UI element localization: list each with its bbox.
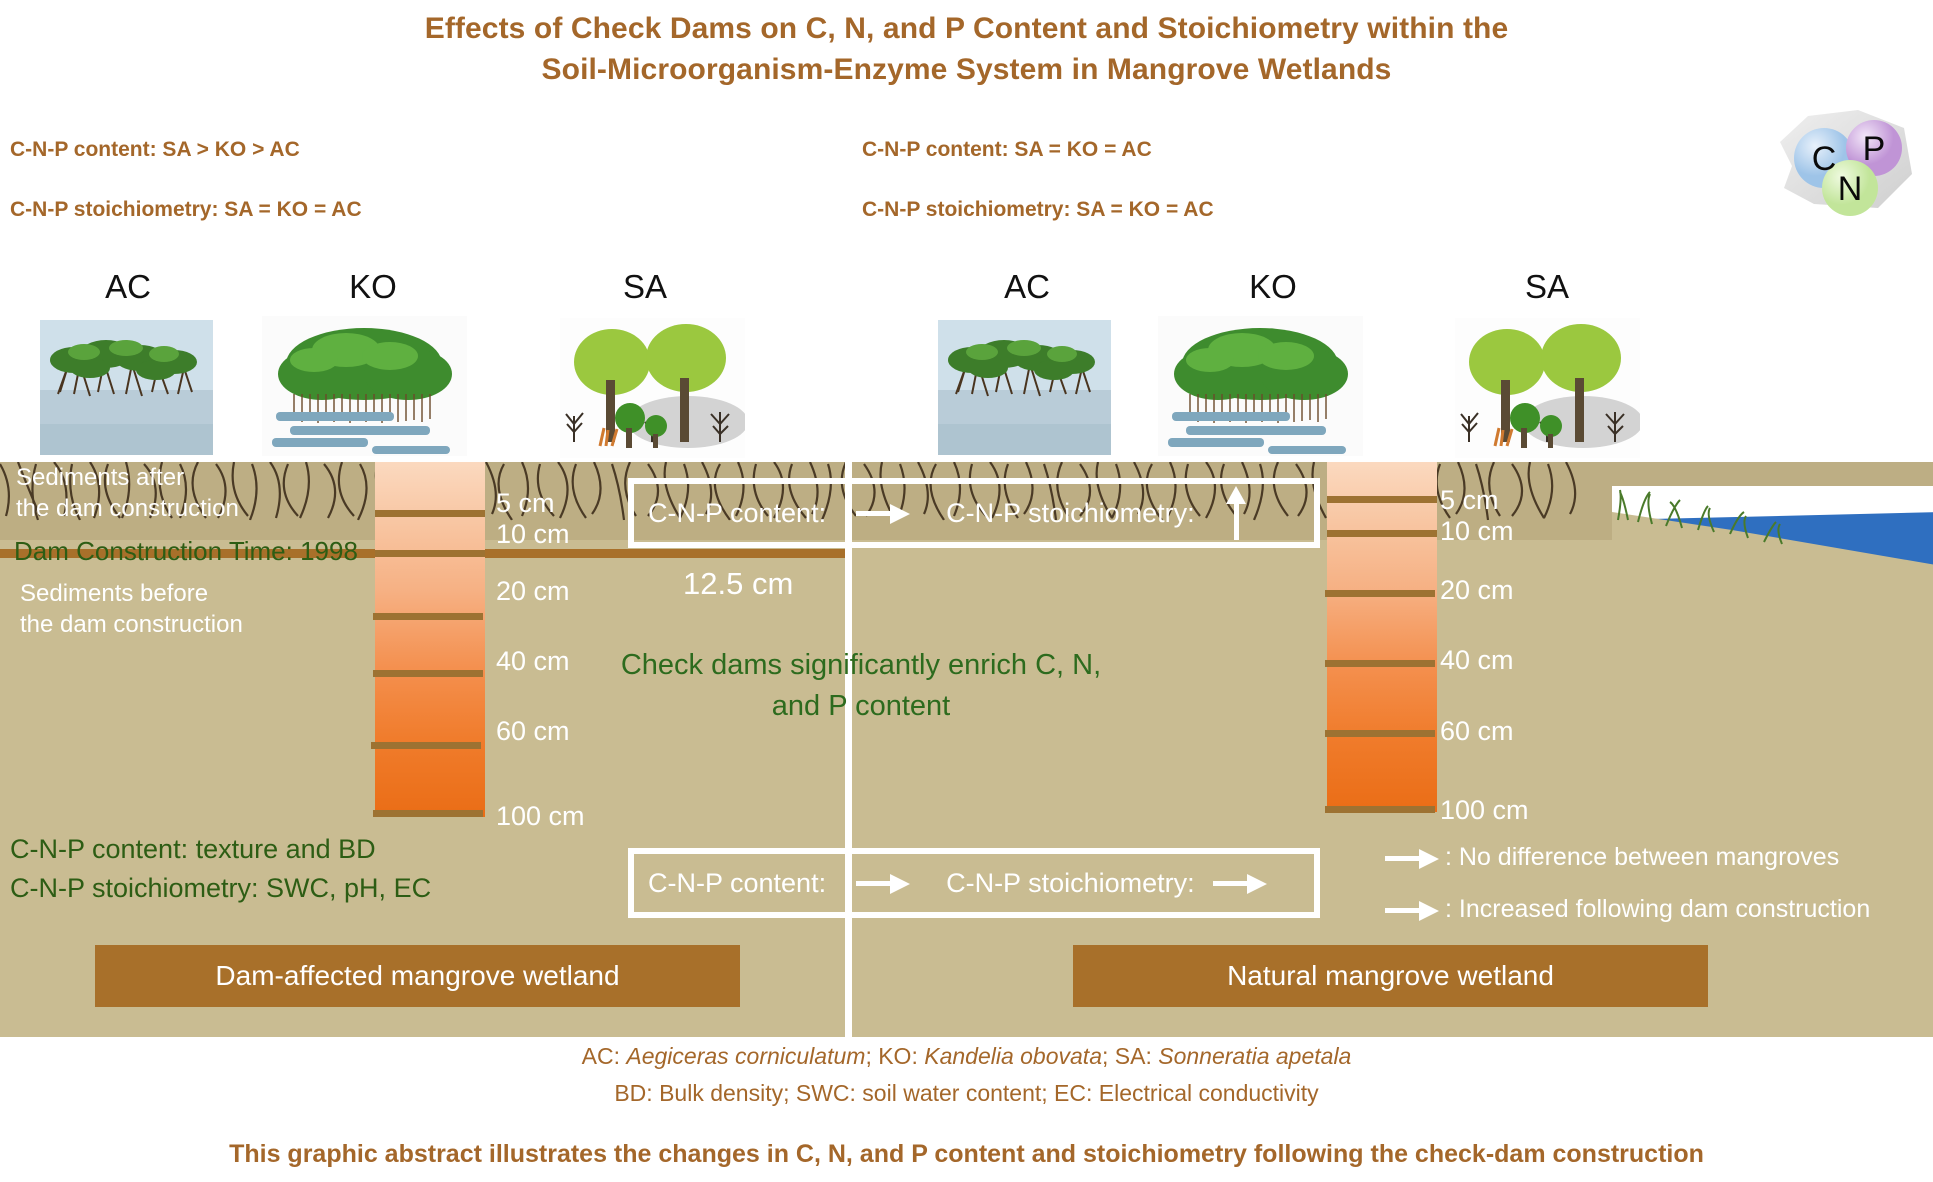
center-message-line-2: and P content — [606, 686, 1116, 727]
up-arrow-icon — [1223, 486, 1249, 540]
depth-tick-100 — [1325, 806, 1435, 813]
sediments-after-line-2: the dam construction — [16, 493, 239, 524]
left-content-statement: C-N-P content: SA > KO > AC — [10, 138, 300, 162]
species-label-right-ko: KO — [1198, 268, 1348, 306]
depth-tick-40 — [1325, 660, 1435, 667]
depth-tick-5 — [1327, 496, 1437, 503]
footnote-sa-species: Sonneratia apetala — [1158, 1043, 1351, 1069]
arrow-box-top-stoichiometry-label: C-N-P stoichiometry: — [946, 498, 1195, 529]
sediments-after-label: Sediments after the dam construction — [16, 462, 239, 524]
arrow-box-top-content-label: C-N-P content: — [648, 498, 826, 529]
depth-tick-60 — [1325, 730, 1435, 737]
footnote-ac-species: Aegiceras corniculatum — [626, 1043, 865, 1069]
depth-label-left-20: 20 cm — [496, 576, 570, 607]
title-line-2: Soil-Microorganism-Enzyme System in Mang… — [0, 49, 1933, 90]
legend-item-no-difference: : No difference between mangroves — [1385, 843, 1839, 872]
depth-tick-20 — [1325, 590, 1435, 597]
center-message-line-1: Check dams significantly enrich C, N, — [606, 645, 1116, 686]
mangrove-illustration-ko-right — [1158, 316, 1363, 456]
sediments-before-line-2: the dam construction — [20, 609, 243, 640]
cnp-molecule-icon: C P N — [1762, 104, 1922, 224]
depth-tick-60 — [371, 742, 481, 749]
depth-label-left-10: 10 cm — [496, 519, 570, 550]
legend-item-no-difference-label: : No difference between mangroves — [1445, 843, 1839, 872]
footnote-ko-species: Kandelia obovata — [924, 1043, 1102, 1069]
footnote-species: AC: Aegiceras corniculatum; KO: Kandelia… — [0, 1043, 1933, 1070]
legend-item-increased: : Increased following dam construction — [1385, 895, 1870, 924]
depth-label-right-100: 100 cm — [1440, 795, 1529, 826]
banner-natural-label: Natural mangrove wetland — [1227, 960, 1554, 992]
legend-item-increased-label: : Increased following dam construction — [1445, 895, 1870, 924]
molecule-p-label: P — [1863, 130, 1886, 168]
depth-label-left-100: 100 cm — [496, 801, 585, 832]
arrow-box-bottom-stoichiometry-label: C-N-P stoichiometry: — [946, 868, 1195, 899]
species-label-right-sa: SA — [1472, 268, 1622, 306]
sediments-before-line-1: Sediments before — [20, 578, 243, 609]
page-title: Effects of Check Dams on C, N, and P Con… — [0, 8, 1933, 90]
species-label-left-sa: SA — [570, 268, 720, 306]
depth-label-right-20: 20 cm — [1440, 575, 1514, 606]
banner-dam-affected-label: Dam-affected mangrove wetland — [215, 960, 619, 992]
mangrove-illustration-ko-left — [262, 316, 467, 456]
depth-column-right — [1327, 462, 1437, 812]
mangrove-cartoon-sa-left — [560, 318, 745, 458]
depth-label-right-10: 10 cm — [1440, 516, 1514, 547]
arrow-box-top: C-N-P content: C-N-P stoichiometry: — [628, 478, 1320, 548]
depth-tick-10 — [1327, 530, 1437, 537]
depth-column-left — [375, 462, 485, 817]
depth-tick-20 — [373, 613, 483, 620]
right-arrow-icon — [856, 870, 912, 896]
panel-divider — [845, 462, 852, 1037]
depth-tick-100 — [373, 810, 483, 817]
depth-tick-10 — [375, 550, 485, 557]
footnote-abbreviations: BD: Bulk density; SWC: soil water conten… — [0, 1080, 1933, 1107]
species-label-left-ko: KO — [298, 268, 448, 306]
depth-label-left-5: 5 cm — [496, 488, 555, 519]
drivers-stoichiometry-line: C-N-P stoichiometry: SWC, pH, EC — [10, 869, 431, 908]
depth-label-right-60: 60 cm — [1440, 716, 1514, 747]
right-stoichiometry-statement: C-N-P stoichiometry: SA = KO = AC — [862, 198, 1214, 222]
molecule-c-label: C — [1812, 140, 1837, 178]
sediment-thickness-label: 12.5 cm — [683, 566, 793, 602]
title-line-1: Effects of Check Dams on C, N, and P Con… — [425, 12, 1509, 45]
depth-label-right-40: 40 cm — [1440, 645, 1514, 676]
graphic-abstract-canvas: Effects of Check Dams on C, N, and P Con… — [0, 0, 1933, 1182]
depth-label-left-40: 40 cm — [496, 646, 570, 677]
left-stoichiometry-statement: C-N-P stoichiometry: SA = KO = AC — [10, 198, 362, 222]
depth-tick-40 — [373, 670, 483, 677]
banner-natural: Natural mangrove wetland — [1073, 945, 1708, 1007]
arrow-box-bottom: C-N-P content: C-N-P stoichiometry: — [628, 848, 1320, 918]
species-label-left-ac: AC — [53, 268, 203, 306]
arrow-box-bottom-content-label: C-N-P content: — [648, 868, 826, 899]
depth-tick-5 — [375, 510, 485, 517]
drivers-text: C-N-P content: texture and BD C-N-P stoi… — [10, 830, 431, 908]
shoreline — [1612, 486, 1933, 566]
depth-label-right-5: 5 cm — [1440, 485, 1499, 516]
right-content-statement: C-N-P content: SA = KO = AC — [862, 138, 1152, 162]
drivers-content-line: C-N-P content: texture and BD — [10, 830, 431, 869]
sediments-after-line-1: Sediments after — [16, 462, 239, 493]
mangrove-photo-ac-right — [938, 320, 1111, 455]
bottom-caption: This graphic abstract illustrates the ch… — [0, 1140, 1933, 1169]
footnote-sa-prefix: ; SA: — [1102, 1043, 1158, 1069]
sediments-before-label: Sediments before the dam construction — [20, 578, 243, 640]
right-arrow-icon — [1213, 870, 1269, 896]
footnote-ac-prefix: AC: — [582, 1043, 627, 1069]
footnote-ko-prefix: ; KO: — [865, 1043, 924, 1069]
depth-label-left-60: 60 cm — [496, 716, 570, 747]
species-label-right-ac: AC — [952, 268, 1102, 306]
dam-construction-label: Dam Construction Time: 1998 — [14, 536, 358, 567]
mangrove-cartoon-sa-right — [1455, 318, 1640, 458]
right-arrow-icon — [856, 500, 912, 526]
right-arrow-icon — [1385, 845, 1441, 871]
right-arrow-icon — [1385, 897, 1441, 923]
banner-dam-affected: Dam-affected mangrove wetland — [95, 945, 740, 1007]
molecule-n-label: N — [1838, 170, 1863, 208]
mangrove-photo-ac-left — [40, 320, 213, 455]
center-message: Check dams significantly enrich C, N, an… — [606, 645, 1116, 727]
